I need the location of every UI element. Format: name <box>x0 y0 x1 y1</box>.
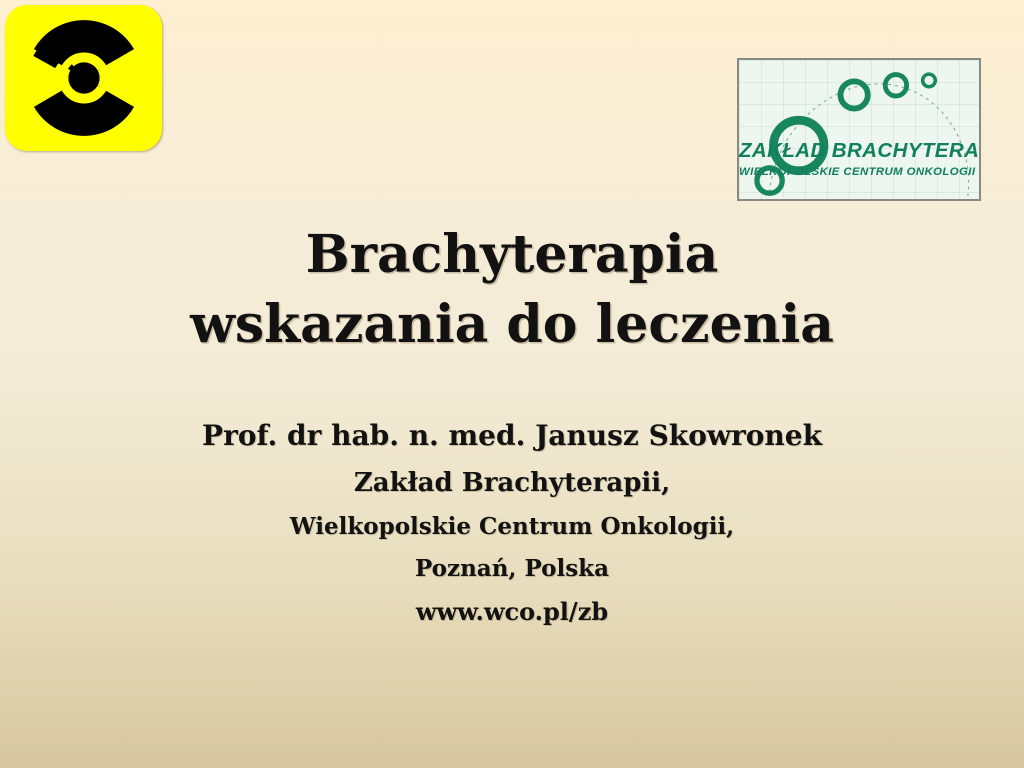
institute-logo: ZAKŁAD BRACHYTERAPII WIELKOPOLSKIE CENTR… <box>737 58 981 201</box>
logo-circles-artwork <box>739 60 979 199</box>
slide-title: Brachyterapia wskazania do leczenia <box>0 220 1024 360</box>
radiation-hazard-badge <box>5 5 162 151</box>
logo-title: ZAKŁAD BRACHYTERAPII <box>739 139 973 163</box>
author-department: Zakład Brachyterapii, <box>0 460 1024 506</box>
author-institution: Wielkopolskie Centrum Onkologii, <box>0 506 1024 548</box>
author-website-link[interactable]: www.wco.pl/zb <box>0 590 1024 634</box>
presentation-slide: ZAKŁAD BRACHYTERAPII WIELKOPOLSKIE CENTR… <box>0 0 1024 768</box>
slide-title-line-2: wskazania do leczenia <box>0 290 1024 360</box>
logo-subtitle: WIELKOPOLSKIE CENTRUM ONKOLOGII <box>739 166 973 178</box>
author-affiliation-block: Prof. dr hab. n. med. Janusz Skowronek Z… <box>0 412 1024 634</box>
radiation-trefoil-icon <box>25 19 143 137</box>
author-name: Prof. dr hab. n. med. Janusz Skowronek <box>0 412 1024 460</box>
author-city: Poznań, Polska <box>0 548 1024 590</box>
slide-title-line-1: Brachyterapia <box>0 220 1024 290</box>
